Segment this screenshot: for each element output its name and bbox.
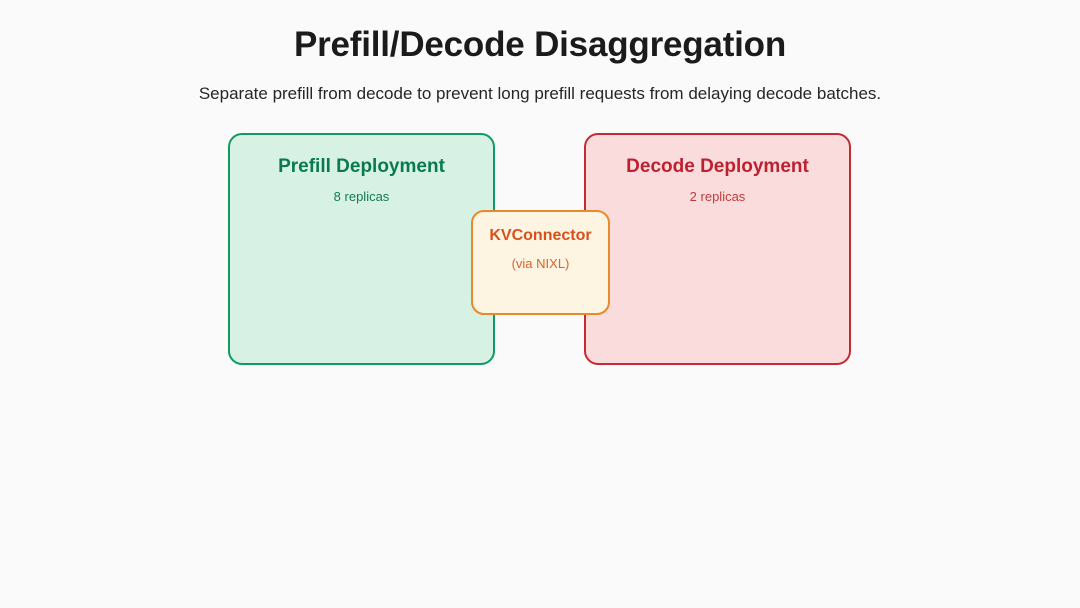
prefill-deployment-title: Prefill Deployment	[230, 155, 493, 179]
prefill-deployment-box: Prefill Deployment 8 replicas	[228, 133, 495, 365]
page-title: Prefill/Decode Disaggregation	[0, 24, 1080, 66]
decode-replica-count: 2 replicas	[586, 188, 849, 206]
prefill-replica-count: 8 replicas	[230, 188, 493, 206]
kv-connector-box: KVConnector (via NIXL)	[471, 210, 610, 315]
kv-connector-title: KVConnector	[473, 226, 608, 246]
decode-deployment-box: Decode Deployment 2 replicas	[584, 133, 851, 365]
slide-canvas: Prefill/Decode Disaggregation Separate p…	[0, 0, 1080, 608]
page-subtitle: Separate prefill from decode to prevent …	[0, 82, 1080, 106]
decode-deployment-title: Decode Deployment	[586, 155, 849, 179]
kv-connector-subtitle: (via NIXL)	[473, 255, 608, 272]
